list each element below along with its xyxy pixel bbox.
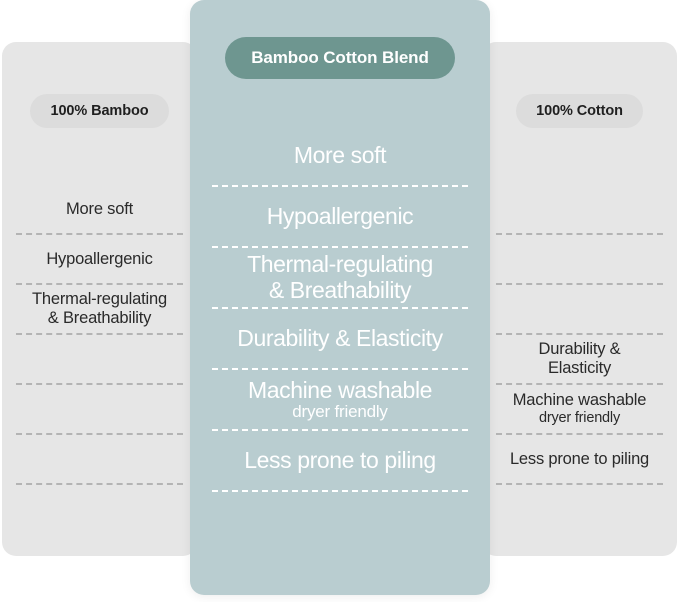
- comparison-column-cotton: 100% Cotton Durability &Elasticity Machi…: [482, 42, 677, 556]
- feature-row: Less prone to piling: [212, 431, 468, 492]
- feature-label: Machine washable: [513, 391, 646, 410]
- feature-row: Machine washable dryer friendly: [496, 385, 663, 435]
- badge-cotton: 100% Cotton: [516, 94, 643, 128]
- badge-bamboo-cotton-blend: Bamboo Cotton Blend: [225, 37, 455, 79]
- feature-row: More soft: [212, 126, 468, 187]
- feature-row-empty: [496, 285, 663, 335]
- feature-label: Durability &Elasticity: [539, 340, 621, 378]
- feature-row-empty: [16, 385, 183, 435]
- feature-row: More soft: [16, 185, 183, 235]
- feature-row: Durability & Elasticity: [212, 309, 468, 370]
- feature-label: Less prone to piling: [244, 448, 435, 473]
- column-header-bamboo: 100% Bamboo: [2, 94, 197, 128]
- feature-row-empty: [496, 235, 663, 285]
- feature-label: Durability & Elasticity: [237, 326, 443, 351]
- comparison-board: 100% Bamboo More soft Hypoallergenic The…: [0, 0, 679, 602]
- feature-label: More soft: [66, 200, 133, 219]
- feature-row: Durability &Elasticity: [496, 335, 663, 385]
- badge-bamboo: 100% Bamboo: [30, 94, 168, 128]
- feature-label: Hypoallergenic: [46, 250, 152, 269]
- feature-label: Thermal-regulating& Breathability: [247, 252, 433, 303]
- feature-label: Thermal-regulating& Breathability: [32, 290, 167, 328]
- feature-row: Hypoallergenic: [212, 187, 468, 248]
- comparison-column-blend-highlighted: Bamboo Cotton Blend More soft Hypoallerg…: [190, 0, 490, 595]
- feature-row-empty: [496, 185, 663, 235]
- feature-list-blend: More soft Hypoallergenic Thermal-regulat…: [190, 126, 490, 492]
- feature-row: Machine washable dryer friendly: [212, 370, 468, 431]
- feature-list-bamboo: More soft Hypoallergenic Thermal-regulat…: [2, 185, 197, 485]
- feature-row: Thermal-regulating& Breathability: [212, 248, 468, 309]
- feature-row-empty: [16, 435, 183, 485]
- feature-list-cotton: Durability &Elasticity Machine washable …: [482, 185, 677, 485]
- column-header-blend: Bamboo Cotton Blend: [190, 37, 490, 79]
- feature-row: Hypoallergenic: [16, 235, 183, 285]
- feature-row: Thermal-regulating& Breathability: [16, 285, 183, 335]
- feature-label: Machine washable: [248, 378, 432, 403]
- feature-row-empty: [16, 335, 183, 385]
- feature-label: Hypoallergenic: [267, 204, 414, 229]
- comparison-column-bamboo: 100% Bamboo More soft Hypoallergenic The…: [2, 42, 197, 556]
- feature-sublabel: dryer friendly: [292, 403, 387, 422]
- feature-sublabel: dryer friendly: [539, 410, 620, 427]
- feature-label: More soft: [294, 143, 386, 168]
- feature-label: Less prone to piling: [510, 450, 649, 469]
- feature-row: Less prone to piling: [496, 435, 663, 485]
- column-header-cotton: 100% Cotton: [482, 94, 677, 128]
